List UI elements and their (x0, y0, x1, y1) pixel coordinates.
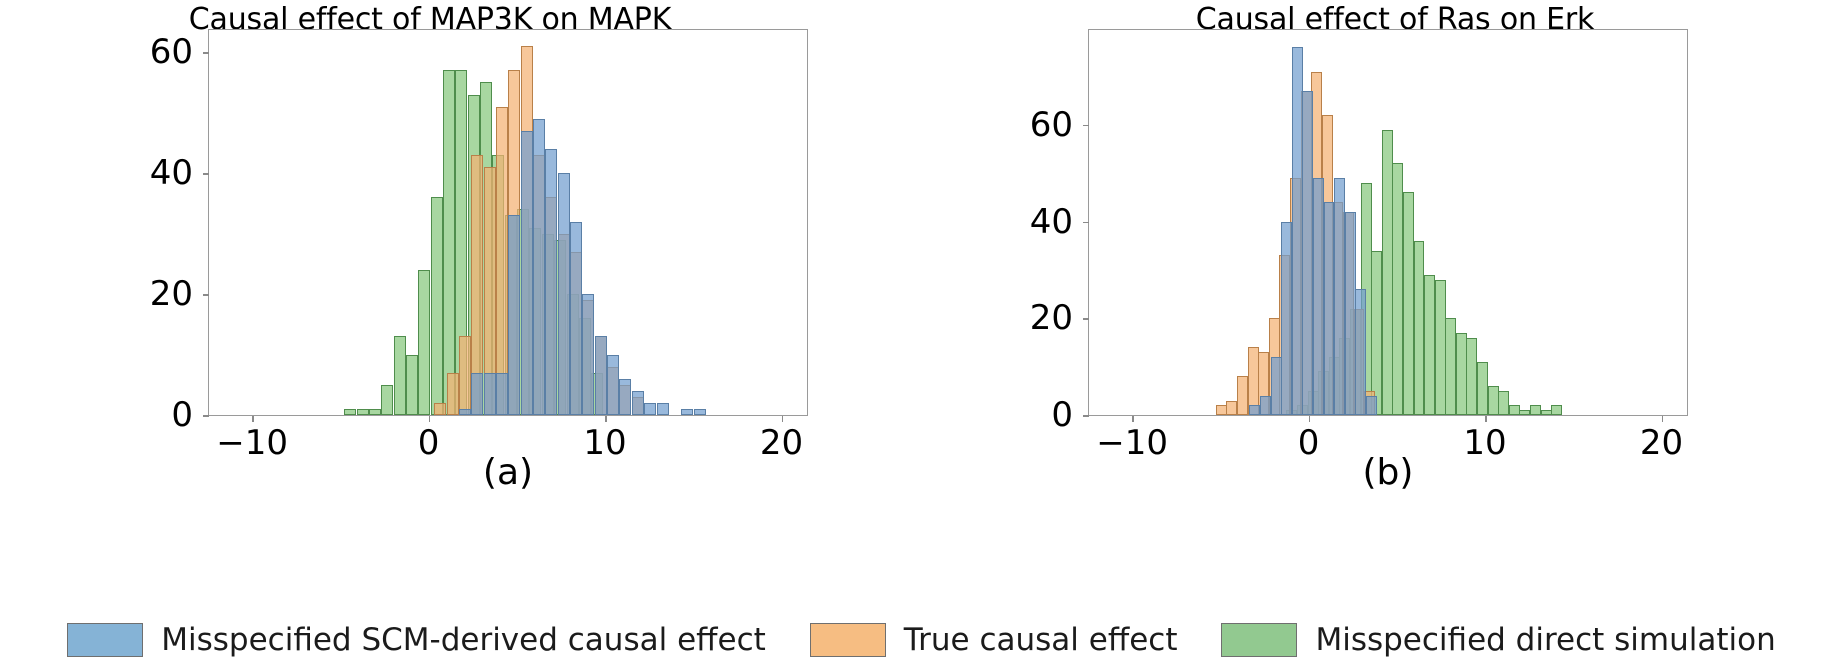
histogram-bar (1271, 357, 1282, 415)
x-tick-label: 20 (722, 426, 842, 460)
x-tick-mark (782, 416, 784, 422)
x-tick-mark (429, 416, 431, 422)
legend-label-blue: Misspecified SCM-derived causal effect (161, 622, 766, 658)
histogram-bar (1355, 289, 1366, 415)
y-tick-label: 20 (113, 277, 193, 311)
histogram-bar (1324, 202, 1335, 415)
x-tick-mark (1485, 416, 1487, 422)
histogram-bar (508, 215, 520, 415)
y-tick-label: 60 (113, 35, 193, 69)
y-tick-label: 0 (993, 398, 1073, 432)
histogram-bar (619, 379, 631, 415)
histogram-bar (607, 355, 619, 415)
histogram-bar (1345, 212, 1356, 415)
histogram-bar (1249, 405, 1260, 415)
x-tick-mark (252, 416, 254, 422)
x-tick-mark (1132, 416, 1134, 422)
x-tick-mark (1309, 416, 1311, 422)
y-tick-mark (203, 52, 209, 54)
x-tick-mark (605, 416, 607, 422)
legend-item-green: Misspecified direct simulation (1221, 622, 1775, 658)
panel-b-plot-area (1088, 29, 1688, 416)
legend-item-blue: Misspecified SCM-derived causal effect (67, 622, 766, 658)
histogram-bar (694, 409, 706, 415)
histogram-bar (1366, 396, 1377, 415)
legend-swatch-blue (67, 623, 143, 657)
panel-a-subcaption: (a) (408, 452, 608, 493)
y-tick-mark (1083, 415, 1089, 417)
y-tick-mark (203, 173, 209, 175)
histogram-bar (545, 149, 557, 415)
y-tick-label: 60 (993, 108, 1073, 142)
legend-item-orange: True causal effect (810, 622, 1178, 658)
panel-b-series-blue (1089, 30, 1687, 415)
histogram-bar (644, 403, 656, 415)
histogram-bar (471, 373, 483, 415)
y-tick-mark (1083, 125, 1089, 127)
histogram-bar (570, 222, 582, 416)
histogram-bar (1260, 396, 1271, 415)
y-tick-label: 40 (113, 156, 193, 190)
panel-a-series-blue (209, 30, 807, 415)
x-tick-label: 20 (1602, 426, 1722, 460)
histogram-bar (632, 391, 644, 415)
histogram-bar (1334, 178, 1345, 415)
y-tick-mark (203, 294, 209, 296)
histogram-bar (595, 336, 607, 415)
histogram-bar (459, 409, 471, 415)
y-tick-mark (1083, 318, 1089, 320)
legend-label-green: Misspecified direct simulation (1315, 622, 1775, 658)
x-tick-mark (1662, 416, 1664, 422)
legend-swatch-green (1221, 623, 1297, 657)
histogram-bar (484, 373, 496, 415)
histogram-bar (521, 131, 533, 415)
histogram-bar (657, 403, 669, 415)
panel-a-plot-area (208, 29, 808, 416)
histogram-bar (681, 409, 693, 415)
histogram-bar (558, 173, 570, 415)
legend-swatch-orange (810, 623, 886, 657)
x-tick-label: −10 (192, 426, 312, 460)
y-tick-mark (203, 415, 209, 417)
y-tick-label: 20 (993, 301, 1073, 335)
y-tick-label: 0 (113, 398, 193, 432)
histogram-bar (1313, 178, 1324, 415)
panel-a: Causal effect of MAP3K on MAPK 0204060−1… (0, 0, 940, 540)
histogram-bar (582, 294, 594, 415)
y-tick-mark (1083, 222, 1089, 224)
x-tick-label: −10 (1072, 426, 1192, 460)
legend-label-orange: True causal effect (904, 622, 1178, 658)
panel-b-subcaption: (b) (1288, 452, 1488, 493)
histogram-bar (496, 373, 508, 415)
histogram-bar (1281, 222, 1292, 416)
histogram-bar (533, 119, 545, 415)
figure-root: Causal effect of MAP3K on MAPK 0204060−1… (0, 0, 1843, 667)
y-tick-label: 40 (993, 205, 1073, 239)
histogram-bar (1292, 47, 1303, 415)
figure-legend: Misspecified SCM-derived causal effect T… (0, 612, 1843, 667)
histogram-bar (1302, 91, 1313, 415)
